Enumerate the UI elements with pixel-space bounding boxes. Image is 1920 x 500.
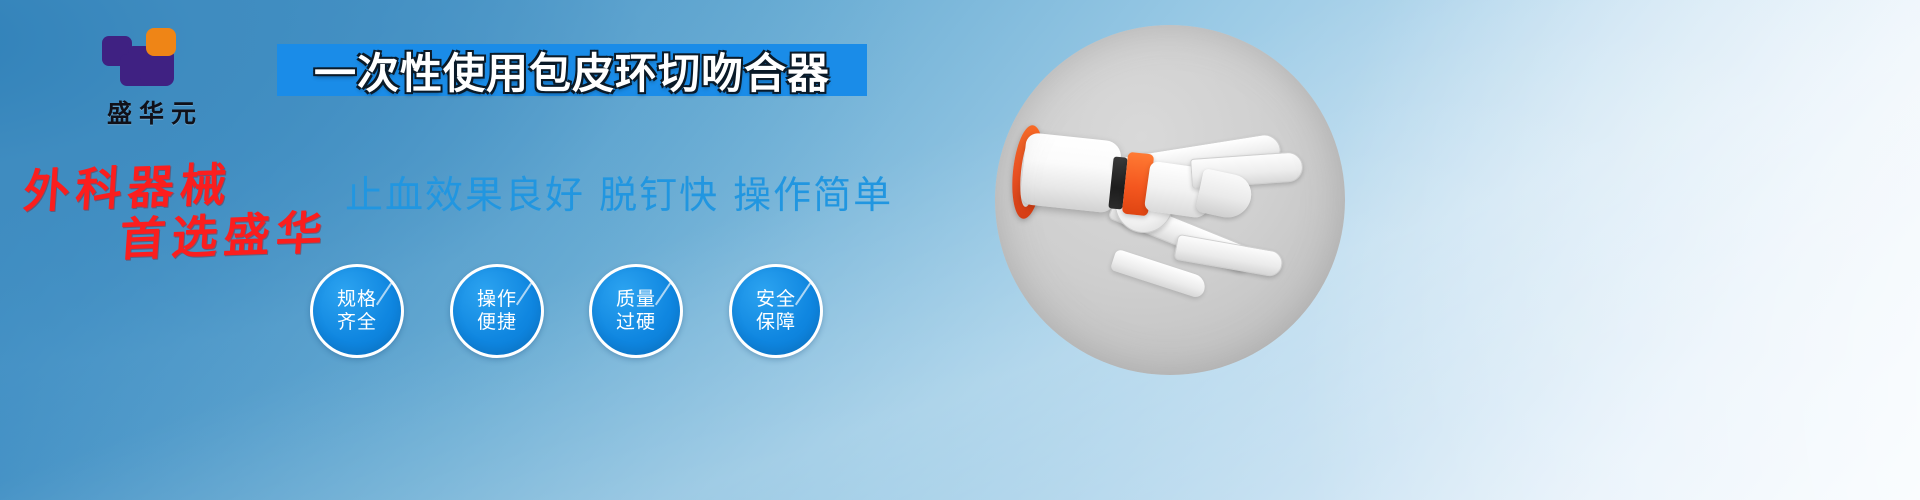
badge-line-2: 过硬 xyxy=(616,311,656,334)
product-tip xyxy=(1195,168,1255,222)
badge-line-2: 保障 xyxy=(756,311,796,334)
slash-decoration-icon xyxy=(516,283,532,306)
product-tail-grip xyxy=(1110,249,1208,300)
feature-badge[interactable]: 规格 齐全 xyxy=(310,264,404,358)
company-logo[interactable]: 盛华元 xyxy=(60,28,250,128)
product-pivot-hub xyxy=(1115,175,1173,233)
product-lower-arm xyxy=(1108,194,1257,274)
product-upper-arm xyxy=(1112,132,1282,184)
feature-badge[interactable]: 安全 保障 xyxy=(729,264,823,358)
badge-line-1: 安全 xyxy=(756,288,796,311)
logo-company-name: 盛华元 xyxy=(60,94,250,130)
logo-mark-icon xyxy=(102,28,194,90)
feature-badge[interactable]: 质量 过硬 xyxy=(589,264,683,358)
promo-banner: 盛华元 一次性使用包皮环切吻合器 外科器械 首选盛华 止血效果良好 脱钉快 操作… xyxy=(0,0,1920,500)
badge-line-1: 操作 xyxy=(477,288,517,311)
feature-badge[interactable]: 操作 便捷 xyxy=(450,264,544,358)
product-orange-band xyxy=(1122,152,1154,216)
product-title-box: 一次性使用包皮环切吻合器 xyxy=(277,44,867,96)
product-inner-ring xyxy=(1017,136,1040,207)
feature-badge-group: 规格 齐全 操作 便捷 质量 过硬 安全 保障 xyxy=(310,264,870,360)
slash-decoration-icon xyxy=(795,283,811,306)
product-lower-arm-ext xyxy=(1174,234,1285,278)
red-slogan-line-2: 首选盛华 xyxy=(117,196,330,269)
product-barrel xyxy=(1019,132,1122,214)
slash-decoration-icon xyxy=(376,283,392,306)
feature-tagline: 止血效果良好 脱钉快 操作简单 xyxy=(345,164,893,219)
product-title: 一次性使用包皮环切吻合器 xyxy=(314,40,830,101)
product-dark-band xyxy=(1108,156,1127,209)
badge-line-1: 规格 xyxy=(337,288,377,311)
product-nose xyxy=(1144,161,1214,219)
slash-decoration-icon xyxy=(655,283,671,306)
badge-line-1: 质量 xyxy=(616,288,656,311)
product-orange-flange xyxy=(1008,124,1048,221)
badge-line-2: 齐全 xyxy=(337,311,377,334)
badge-line-2: 便捷 xyxy=(477,311,517,334)
product-upper-arm-ext xyxy=(1190,151,1304,189)
product-image xyxy=(995,25,1345,375)
logo-block-accent xyxy=(146,28,176,56)
